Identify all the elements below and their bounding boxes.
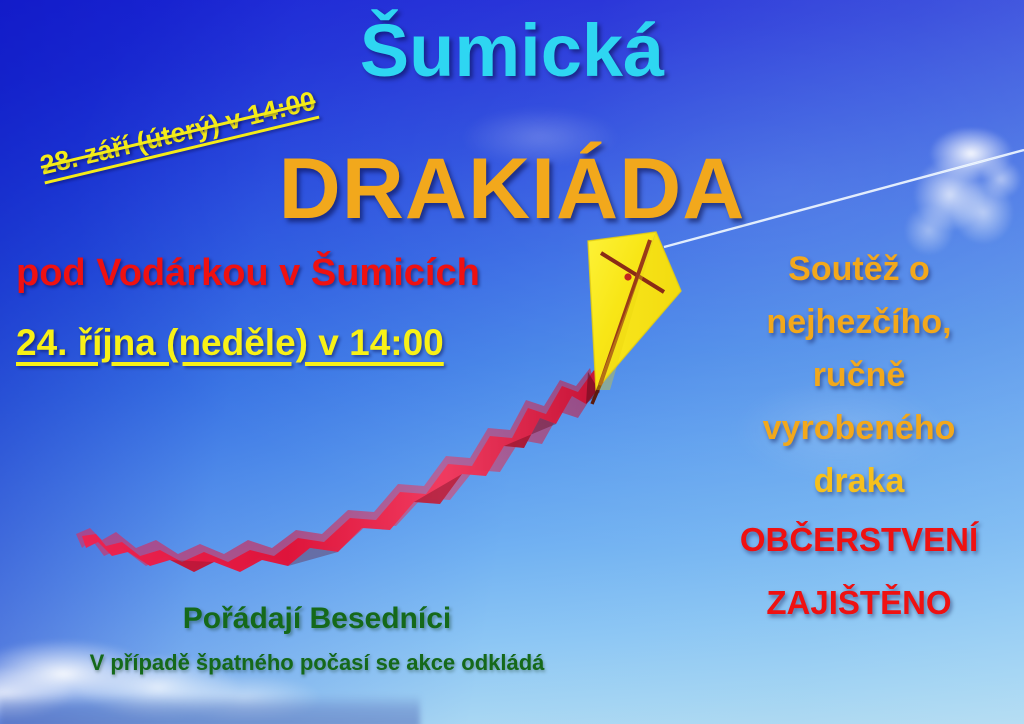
- organiser-block: Pořádají Besedníci: [0, 602, 1024, 636]
- competition-line: nejhezčího,: [700, 296, 1018, 349]
- competition-line: draka: [700, 455, 1018, 508]
- competition-line: Soutěž o: [700, 243, 1018, 296]
- competition-info-block: Soutěž o nejhezčího, ručně vyrobeného dr…: [700, 243, 1018, 634]
- horizon-band: [0, 694, 420, 724]
- competition-line: ručně: [700, 349, 1018, 402]
- page-title-line1: Šumická: [0, 8, 1024, 93]
- refreshments-label: OBČERSTVENÍ: [700, 508, 1018, 571]
- event-date-label: 24. října (neděle) v 14:00: [16, 322, 444, 364]
- organiser-label: Pořádají Besedníci: [183, 602, 841, 635]
- venue-label: pod Vodárkou v Šumicích: [16, 252, 480, 295]
- drakiada-poster: Šumická DRAKIÁDA 28. září (úterý) v 14:0…: [0, 0, 1024, 724]
- competition-line: vyrobeného: [700, 402, 1018, 455]
- weather-note-label: V případě špatného počasí se akce odklád…: [90, 650, 935, 675]
- weather-note-block: V případě špatného počasí se akce odklád…: [0, 650, 1024, 676]
